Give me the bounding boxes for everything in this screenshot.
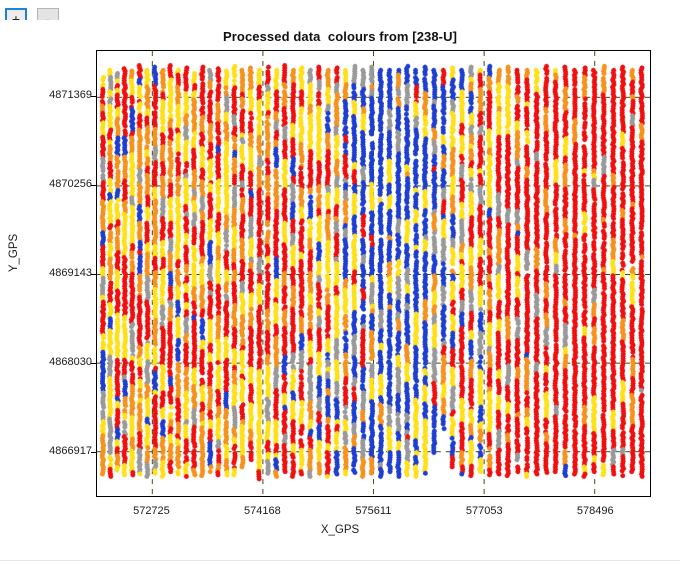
chart-title: Processed data colours from [238-U] [0,29,680,44]
y-tick-label: 4866917 [22,445,92,457]
y-axis-label: Y_GPS [8,234,20,272]
x-tick-label: 574168 [222,505,302,517]
scatter-canvas [97,51,650,496]
x-tick-label: 575611 [333,505,413,517]
x-tick-label: 572725 [111,505,191,517]
plot-area[interactable] [96,50,651,497]
x-tick-label: 577053 [444,505,524,517]
scatter-plot-figure: Processed data colours from [238-U] Y_GP… [0,20,680,540]
x-axis-label: X_GPS [0,524,680,536]
y-tick-label: 4871369 [22,89,92,101]
x-tick-label: 578496 [555,505,635,517]
bottom-divider [0,560,680,561]
y-tick-label: 4868030 [22,356,92,368]
y-tick-label: 4869143 [22,267,92,279]
y-tick-label: 4870256 [22,178,92,190]
